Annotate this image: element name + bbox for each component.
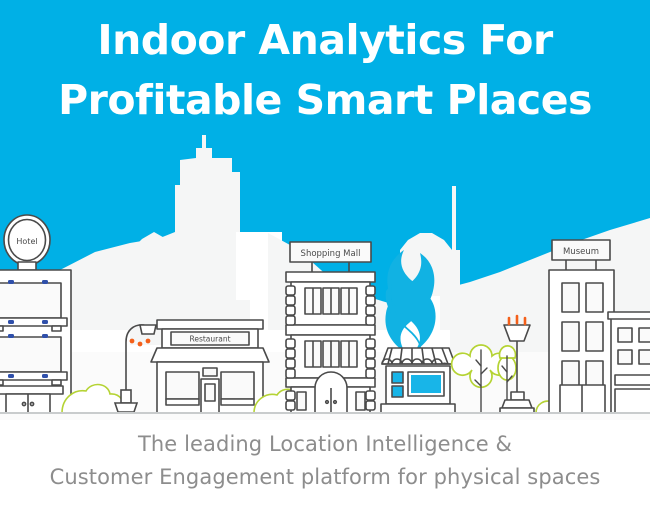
restaurant-sign-label: Restaurant — [189, 335, 230, 344]
subtitle-line-1: The leading Location Intelligence & — [0, 428, 650, 461]
hotel-sign-label: Hotel — [16, 237, 37, 246]
hotel-sign: Hotel — [4, 215, 50, 270]
shopping-mall-sign-label: Shopping Mall — [301, 249, 361, 259]
corner-shop-with-awning — [381, 348, 455, 413]
hero-banner: Indoor Analytics For Profitable Smart Pl… — [0, 0, 650, 513]
restaurant-awning — [151, 348, 269, 362]
office-building-right — [608, 312, 650, 413]
city-illustration: Hotel — [0, 0, 650, 420]
restaurant-building: Restaurant — [151, 320, 269, 413]
museum-sign-label: Museum — [563, 247, 599, 257]
shop-window-cyan — [411, 375, 441, 393]
hotel-building: Hotel — [0, 215, 71, 413]
subtitle-line-2: Customer Engagement platform for physica… — [0, 461, 650, 494]
page-subtitle: The leading Location Intelligence & Cust… — [0, 428, 650, 494]
